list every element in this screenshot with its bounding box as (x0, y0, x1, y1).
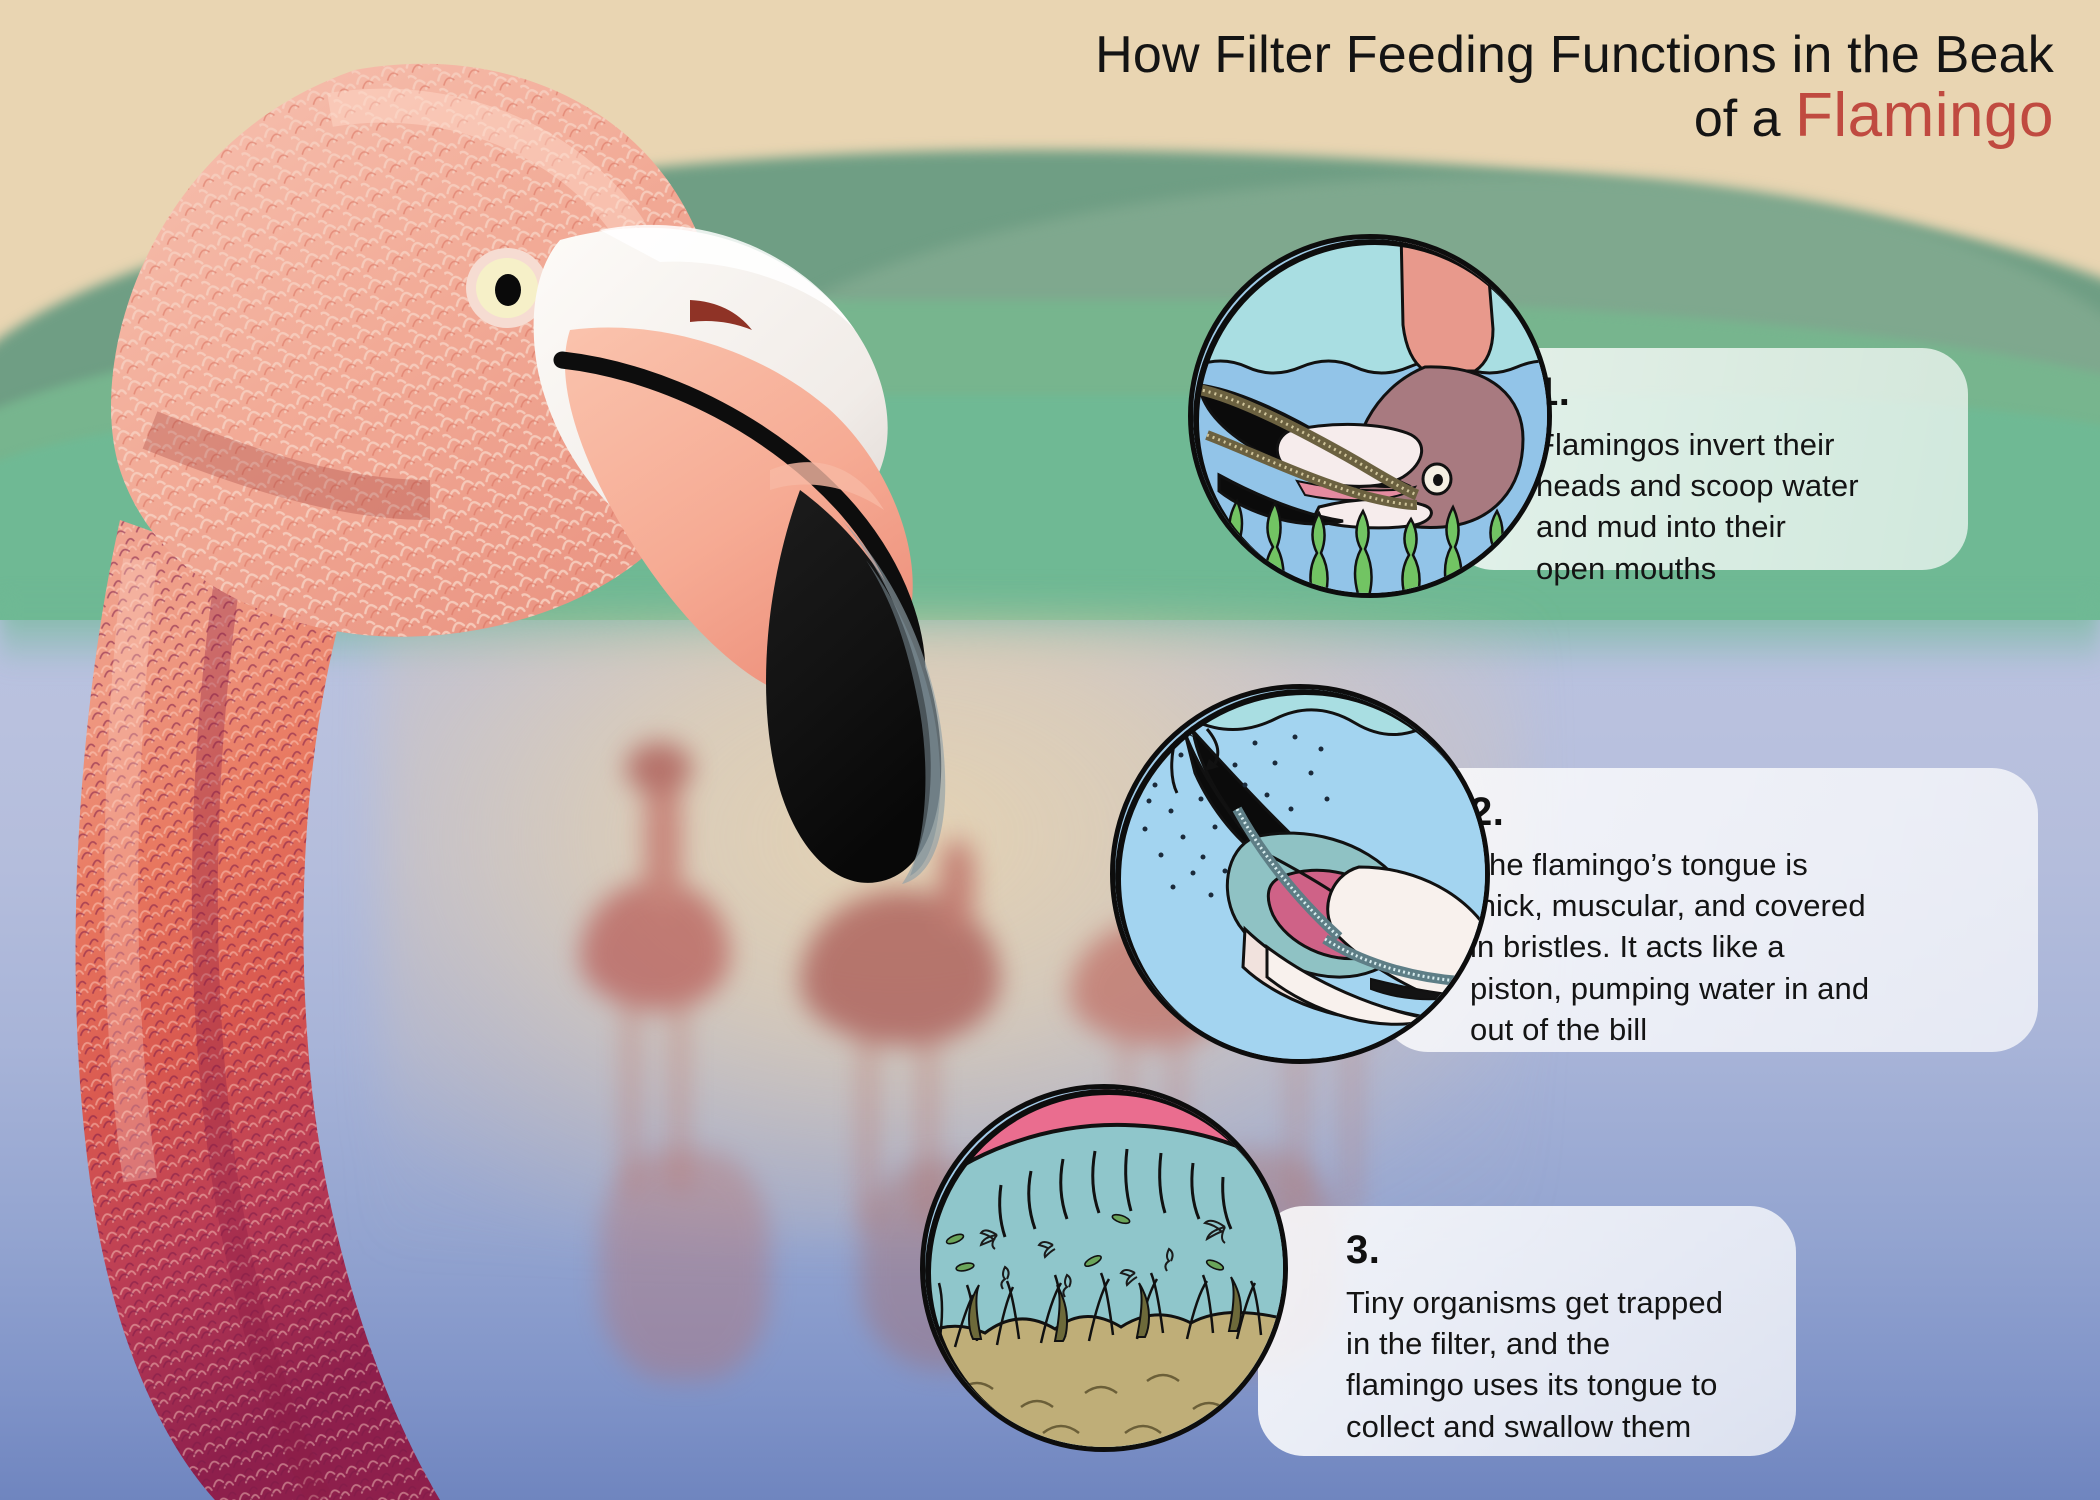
step-3-panel: 3. Tiny organisms get trapped in the fil… (1258, 1206, 1796, 1456)
step-3-text: Tiny organisms get trapped in the filter… (1346, 1282, 1762, 1447)
title-line-1: How Filter Feeding Functions in the Beak (904, 28, 2054, 83)
step-2-number: 2. (1470, 792, 2004, 832)
infographic-canvas: How Filter Feeding Functions in the Beak… (0, 0, 2100, 1500)
step-3-number: 3. (1346, 1230, 1762, 1270)
title-prefix: of a (1694, 90, 1795, 148)
title-line-2: of a Flamingo (904, 83, 2054, 149)
step-2-text: The flamingo’s tongue is thick, muscular… (1470, 844, 2004, 1050)
step-1-number: 1. (1536, 372, 1934, 412)
eye-pupil (495, 274, 521, 306)
page-title: How Filter Feeding Functions in the Beak… (904, 28, 2054, 149)
title-accent-word: Flamingo (1795, 81, 2054, 150)
step-3-illustration (920, 1084, 1288, 1452)
step-2-illustration (1110, 684, 1490, 1064)
step-1-text: Flamingos invert their heads and scoop w… (1536, 424, 1934, 589)
step-1-illustration (1188, 234, 1552, 598)
